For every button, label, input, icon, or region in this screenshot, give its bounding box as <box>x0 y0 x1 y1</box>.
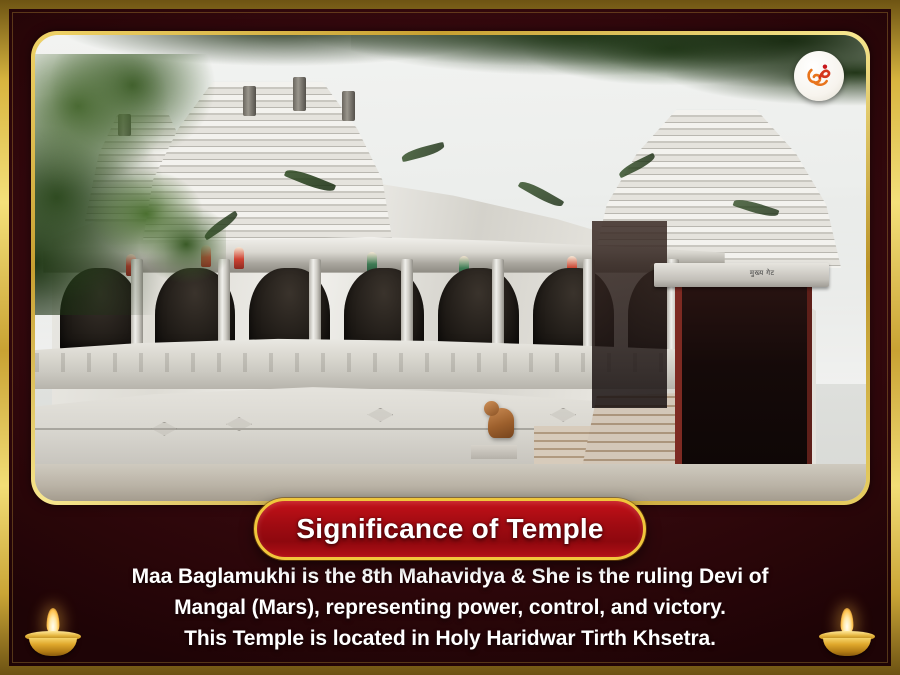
om-icon <box>802 59 836 93</box>
gallery-arch <box>438 268 518 352</box>
gate-signboard <box>654 263 829 286</box>
marble-pillar <box>309 259 321 352</box>
foreground-ground <box>35 464 866 501</box>
ribbon-title-text: Significance of Temple <box>296 513 603 545</box>
caption-line-3: This Temple is located in Holy Haridwar … <box>35 623 865 654</box>
gate-dark-column <box>592 221 667 407</box>
temple-photo-frame: मुख्य गेट <box>31 31 870 505</box>
caption-block: Maa Baglamukhi is the 8th Mahavidya & Sh… <box>9 561 891 654</box>
diya-lamp-right <box>819 610 875 656</box>
title-ribbon: Significance of Temple <box>254 498 646 560</box>
caption-line-1: Maa Baglamukhi is the 8th Mahavidya & Sh… <box>35 561 865 592</box>
diya-bowl <box>823 638 871 656</box>
finial-block-2 <box>293 77 306 111</box>
marble-pillar <box>492 259 504 352</box>
temple-logo-badge[interactable] <box>794 51 844 101</box>
devotional-poster-card: मुख्य गेट <box>0 0 900 675</box>
lion-statue <box>488 408 514 438</box>
gate-signboard-text: मुख्य गेट <box>750 269 775 278</box>
finial-block-3 <box>342 91 355 121</box>
lion-statue-pedestal <box>471 445 517 459</box>
diya-bowl <box>29 638 77 656</box>
marble-pillar <box>401 259 413 352</box>
diya-lamp-left <box>25 610 81 656</box>
caption-line-2: Mangal (Mars), representing power, contr… <box>35 592 865 623</box>
temple-photograph: मुख्य गेट <box>35 35 866 501</box>
poster-inner-panel: मुख्य गेट <box>9 9 891 666</box>
mid-foliage-sprig <box>93 165 226 286</box>
